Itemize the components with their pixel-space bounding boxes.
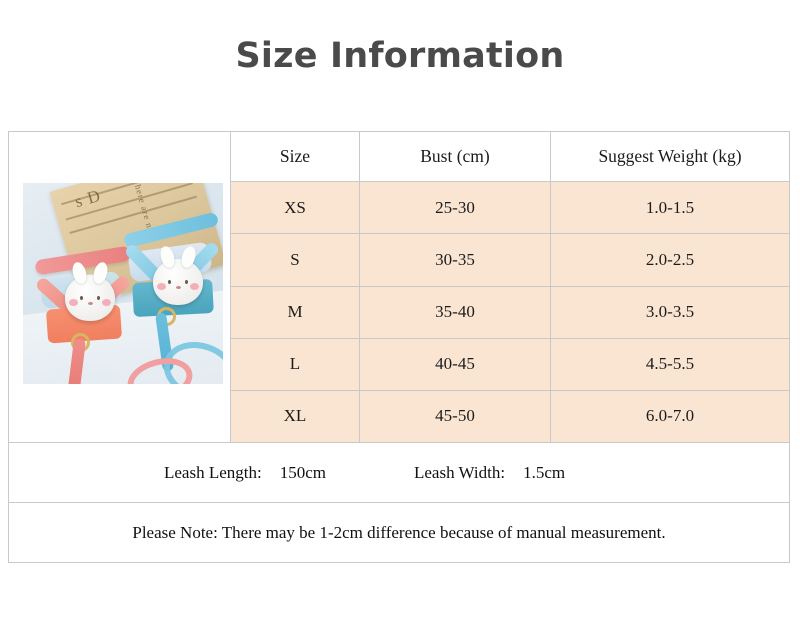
bunny-eye-right xyxy=(185,280,188,284)
cell-bust: 35-40 xyxy=(360,287,551,338)
bunny-eye-left xyxy=(80,296,83,300)
cell-size: XS xyxy=(231,182,360,233)
cell-size: XL xyxy=(231,391,360,442)
size-chart-page: Size Information s D There are no xyxy=(0,0,800,620)
table-row: L 40-45 4.5-5.5 xyxy=(231,338,789,390)
measurement-grid: Size Bust (cm) Suggest Weight (kg) XS 25… xyxy=(231,132,789,442)
bunny-eye-right xyxy=(97,296,100,300)
bunny-cheek-right xyxy=(102,299,111,306)
cell-size: M xyxy=(231,287,360,338)
bunny-cheek-right xyxy=(190,283,199,290)
cell-size: S xyxy=(231,234,360,285)
cell-bust: 40-45 xyxy=(360,339,551,390)
page-title: Size Information xyxy=(0,36,800,76)
cell-weight: 3.0-3.5 xyxy=(551,287,789,338)
bunny-cheek-left xyxy=(157,283,166,290)
leash-width-group: Leash Width: 1.5cm xyxy=(414,463,565,483)
bunny-charm-blue xyxy=(153,259,203,305)
table-upper-section: s D There are no xyxy=(9,132,789,442)
column-header-weight: Suggest Weight (kg) xyxy=(551,132,789,181)
leash-width-value: 1.5cm xyxy=(523,463,565,483)
note-row: Please Note: There may be 1-2cm differen… xyxy=(9,502,789,562)
cell-weight: 2.0-2.5 xyxy=(551,234,789,285)
cell-weight: 1.0-1.5 xyxy=(551,182,789,233)
cell-bust: 30-35 xyxy=(360,234,551,285)
bunny-nose xyxy=(176,286,181,289)
bunny-cheek-left xyxy=(69,299,78,306)
size-table: s D There are no xyxy=(8,131,790,563)
cell-weight: 6.0-7.0 xyxy=(551,391,789,442)
product-image-cell: s D There are no xyxy=(9,132,231,442)
cell-weight: 4.5-5.5 xyxy=(551,339,789,390)
table-row: XS 25-30 1.0-1.5 xyxy=(231,181,789,233)
cell-size: L xyxy=(231,339,360,390)
leash-length-group: Leash Length: 150cm xyxy=(164,463,326,483)
table-row: M 35-40 3.0-3.5 xyxy=(231,286,789,338)
bunny-charm-pink xyxy=(65,275,115,321)
bunny-nose xyxy=(88,302,93,305)
bunny-eye-left xyxy=(168,280,171,284)
cell-bust: 25-30 xyxy=(360,182,551,233)
leash-spec-row: Leash Length: 150cm Leash Width: 1.5cm xyxy=(9,442,789,502)
leash-length-label: Leash Length: xyxy=(164,463,262,483)
column-header-bust: Bust (cm) xyxy=(360,132,551,181)
table-row: XL 45-50 6.0-7.0 xyxy=(231,390,789,442)
column-header-size: Size xyxy=(231,132,360,181)
table-row: S 30-35 2.0-2.5 xyxy=(231,233,789,285)
measurement-note: Please Note: There may be 1-2cm differen… xyxy=(132,523,665,543)
cell-bust: 45-50 xyxy=(360,391,551,442)
leash-width-label: Leash Width: xyxy=(414,463,505,483)
product-photo: s D There are no xyxy=(23,183,223,384)
leash-length-value: 150cm xyxy=(280,463,326,483)
table-header-row: Size Bust (cm) Suggest Weight (kg) xyxy=(231,132,789,181)
